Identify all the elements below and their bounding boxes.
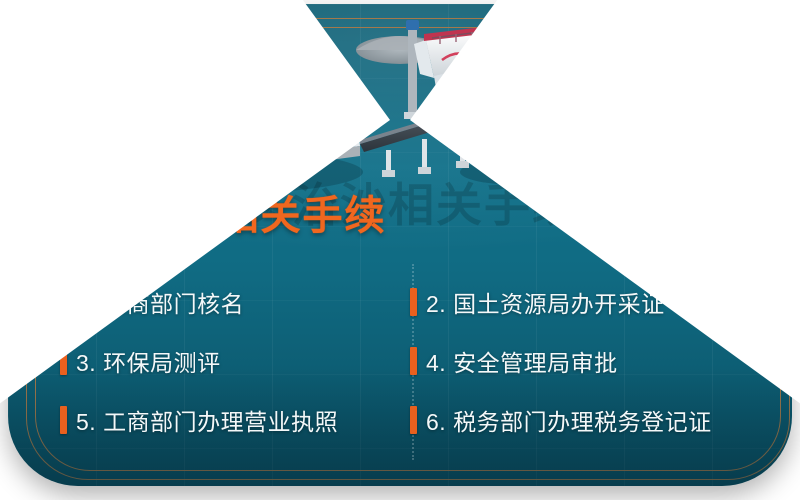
procedure-list: 1. 工商部门核名 2. 国土资源局办开采证 3. 环保局测评 4. 安全管理局… bbox=[60, 272, 760, 449]
list-item-label: 1. 工商部门核名 bbox=[76, 285, 244, 319]
title-emphasis: 相关手续 bbox=[218, 196, 386, 236]
list-item[interactable]: 5. 工商部门办理营业执照 bbox=[60, 390, 410, 449]
list-item-label: 3. 环保局测评 bbox=[76, 344, 221, 378]
bullet-bar-icon bbox=[60, 347, 67, 375]
list-item[interactable]: 4. 安全管理局审批 bbox=[410, 331, 760, 390]
title-prefix: 石头治沙 bbox=[76, 201, 200, 231]
list-item-label: 2. 国土资源局办开采证 bbox=[426, 285, 665, 319]
list-item-label: 4. 安全管理局审批 bbox=[426, 344, 618, 378]
poster-stage: 石头治沙相关手续 石头治沙 相关手续 1. 工商部门核名 2. 国土资源局办开采… bbox=[0, 0, 800, 500]
list-item-label: 5. 工商部门办理营业执照 bbox=[76, 403, 338, 437]
list-item[interactable]: 2. 国土资源局办开采证 bbox=[410, 272, 760, 331]
bullet-bar-icon bbox=[60, 406, 67, 434]
list-item[interactable]: 6. 税务部门办理税务登记证 bbox=[410, 390, 760, 449]
production-line-illustration bbox=[8, 4, 792, 204]
list-item[interactable]: 3. 环保局测评 bbox=[60, 331, 410, 390]
list-item[interactable]: 1. 工商部门核名 bbox=[60, 272, 410, 331]
bullet-bar-icon bbox=[60, 288, 67, 316]
production-line-svg bbox=[8, 4, 792, 204]
bullet-bar-icon bbox=[410, 347, 417, 375]
bullet-bar-icon bbox=[410, 406, 417, 434]
list-item-label: 6. 税务部门办理税务登记证 bbox=[426, 403, 712, 437]
belt-conveyor-4 bbox=[633, 86, 713, 149]
bullet-bar-icon bbox=[410, 288, 417, 316]
procedure-panel: 石头治沙相关手续 石头治沙 相关手续 1. 工商部门核名 2. 国土资源局办开采… bbox=[8, 190, 792, 480]
teal-card: 石头治沙相关手续 石头治沙 相关手续 1. 工商部门核名 2. 国土资源局办开采… bbox=[8, 4, 792, 486]
sand-stockpile-cone bbox=[622, 147, 738, 167]
page-title: 石头治沙相关手续 石头治沙 相关手续 bbox=[76, 196, 386, 236]
